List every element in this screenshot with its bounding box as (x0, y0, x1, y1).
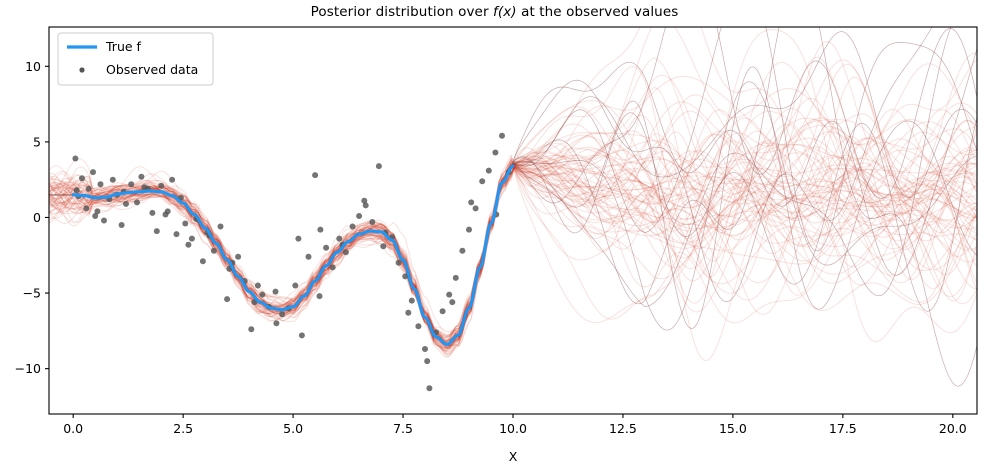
x-tick-label: 2.5 (173, 421, 193, 436)
y-tick-label: −10 (15, 361, 41, 376)
observed-data-point (158, 183, 164, 189)
legend-label-observed-data: Observed data (106, 62, 198, 77)
legend[interactable]: True f Observed data (58, 33, 213, 85)
observed-data-point (273, 320, 279, 326)
observed-data-point (473, 205, 479, 211)
observed-data-point (165, 208, 171, 214)
observed-data-point (492, 150, 498, 156)
observed-data-point (317, 293, 323, 299)
observed-data-point (306, 254, 312, 260)
observed-data-point (224, 296, 230, 302)
observed-data-point (468, 199, 474, 205)
observed-data-point (499, 133, 505, 139)
observed-data-point (279, 311, 285, 317)
observed-data-point (101, 218, 107, 224)
observed-data-point (259, 292, 265, 298)
x-tick-label: 5.0 (283, 421, 303, 436)
observed-data-point (350, 224, 356, 230)
y-tick-label: 0 (33, 210, 41, 225)
x-tick-label: 12.5 (609, 421, 637, 436)
observed-data-point (453, 275, 459, 281)
observed-data-point (479, 178, 485, 184)
observed-data-point (323, 245, 329, 251)
observed-data-point (396, 260, 402, 266)
observed-data-point (169, 177, 175, 183)
observed-data-point (174, 231, 180, 237)
x-axis-label: X (509, 449, 518, 464)
observed-data-point (486, 168, 492, 174)
observed-data-point (426, 385, 432, 391)
observed-data-point (299, 332, 305, 338)
observed-data-point (336, 236, 342, 242)
observed-data-point (79, 175, 85, 181)
y-tick-label: 5 (33, 134, 41, 149)
observed-data-point (154, 228, 160, 234)
matplotlib-figure: Posterior distribution over f(x) at the … (0, 0, 989, 470)
y-axis-ticks: −10−50510 (15, 59, 49, 376)
observed-data-point (376, 163, 382, 169)
x-tick-label: 10.0 (499, 421, 527, 436)
observed-data-point (440, 308, 446, 314)
observed-data-point (83, 205, 89, 211)
observed-data-point (94, 208, 100, 214)
observed-data-point (138, 174, 144, 180)
chart-canvas: 0.02.55.07.510.012.515.017.520.0 −10−505… (0, 0, 989, 470)
observed-data-point (449, 299, 455, 305)
x-tick-label: 17.5 (829, 421, 857, 436)
observed-data-point (317, 227, 323, 233)
observed-data-point (409, 298, 415, 304)
observed-data-point (218, 224, 224, 230)
x-tick-label: 0.0 (63, 421, 83, 436)
observed-data-point (90, 169, 96, 175)
observed-data-point (182, 221, 188, 227)
observed-data-point (74, 187, 80, 193)
observed-data-point (134, 199, 140, 205)
y-tick-label: 10 (25, 59, 41, 74)
observed-data-point (422, 346, 428, 352)
legend-swatch-observed-data (79, 67, 84, 72)
observed-data-point (149, 210, 155, 216)
observed-data-point (405, 310, 411, 316)
observed-data-point (369, 219, 375, 225)
observed-data-point (380, 243, 386, 249)
observed-data-point (211, 248, 217, 254)
observed-data-point (235, 254, 241, 260)
observed-data-point (424, 358, 430, 364)
observed-data-point (466, 227, 472, 233)
observed-data-point (141, 184, 147, 190)
x-tick-label: 15.0 (719, 421, 747, 436)
observed-data-point (72, 156, 78, 162)
observed-data-point (98, 181, 104, 187)
legend-label-true-f: True f (105, 39, 142, 54)
observed-data-point (312, 172, 318, 178)
observed-data-point (185, 242, 191, 248)
observed-data-point (110, 177, 116, 183)
observed-data-point (189, 236, 195, 242)
observed-data-point (273, 289, 279, 295)
x-axis-ticks: 0.02.55.07.510.012.515.017.520.0 (63, 414, 967, 436)
observed-data-point (200, 258, 206, 264)
x-tick-label: 7.5 (393, 421, 413, 436)
observed-data-point (248, 326, 254, 332)
observed-data-point (292, 283, 298, 289)
observed-data-point (415, 323, 421, 329)
observed-data-point (343, 249, 349, 255)
observed-data-point (446, 292, 452, 298)
observed-data-point (361, 198, 367, 204)
observed-data-point (356, 213, 362, 219)
observed-data-point (255, 283, 261, 289)
observed-data-point (86, 186, 92, 192)
observed-data-point (295, 236, 301, 242)
x-tick-label: 20.0 (939, 421, 967, 436)
observed-data-point (459, 248, 465, 254)
observed-data-point (119, 222, 125, 228)
observed-data-point (330, 264, 336, 270)
observed-data-point (128, 181, 134, 187)
y-tick-label: −5 (23, 286, 41, 301)
observed-data-point (123, 201, 129, 207)
